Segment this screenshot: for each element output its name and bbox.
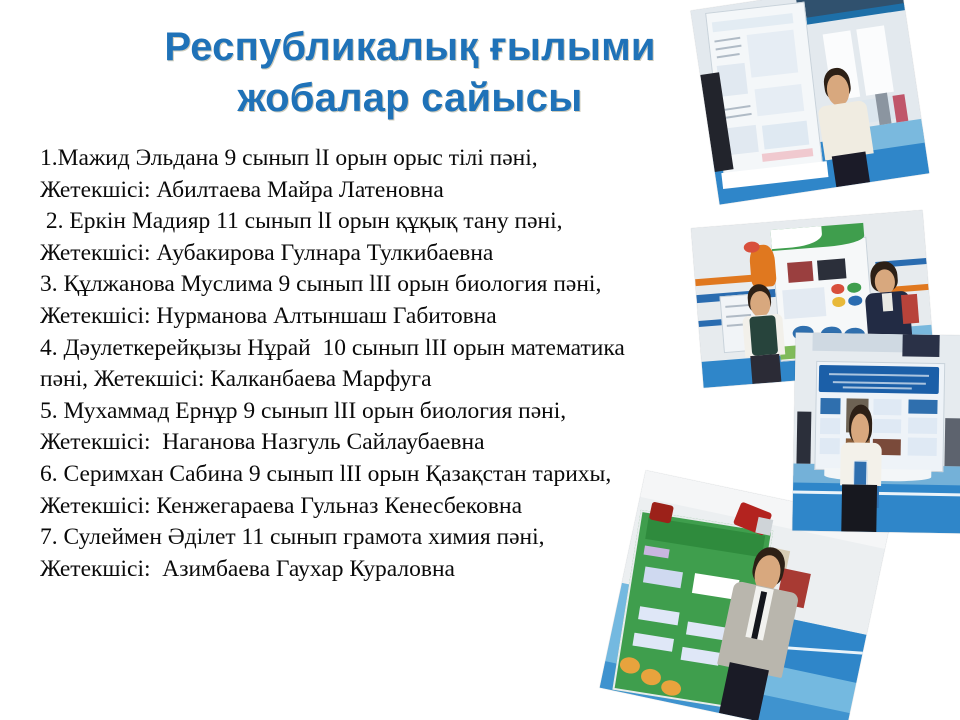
list-item: Жетекшісі: Аубакирова Гулнара Тулкибаевн…	[40, 238, 740, 270]
list-item: Жетекшісі: Наганова Назгуль Сайлаубаевна	[40, 427, 740, 459]
page-title: Республикалық ғылыми жобалар сайысы	[90, 22, 730, 124]
list-item: 3. Құлжанова Муслима 9 сынып lII орын би…	[40, 269, 740, 301]
presentation-slide: Республикалық ғылыми жобалар сайысы 1.Ма…	[0, 0, 960, 720]
photo-girl-white-poster	[691, 0, 930, 205]
photo-girl-blue-poster	[792, 333, 960, 534]
list-item: Жетекшісі: Абилтаева Майра Латеновна	[40, 175, 740, 207]
list-item: Жетекшісі: Нурманова Алтыншаш Габитовна	[40, 301, 740, 333]
list-item: 2. Еркін Мадияр 11 сынып lI орын құқық т…	[40, 206, 740, 238]
list-item: 1.Мажид Эльдана 9 сынып lI орын орыс тіл…	[40, 143, 740, 175]
list-item: 6. Серимхан Сабина 9 сынып lII орын Қаза…	[40, 459, 740, 491]
list-item: пәні, Жетекшісі: Калканбаева Марфуга	[40, 364, 740, 396]
list-item: 4. Дәулеткерейқызы Нұрай 10 сынып lII ор…	[40, 333, 740, 365]
list-item: 5. Мухаммад Ернұр 9 сынып lII орын биоло…	[40, 396, 740, 428]
